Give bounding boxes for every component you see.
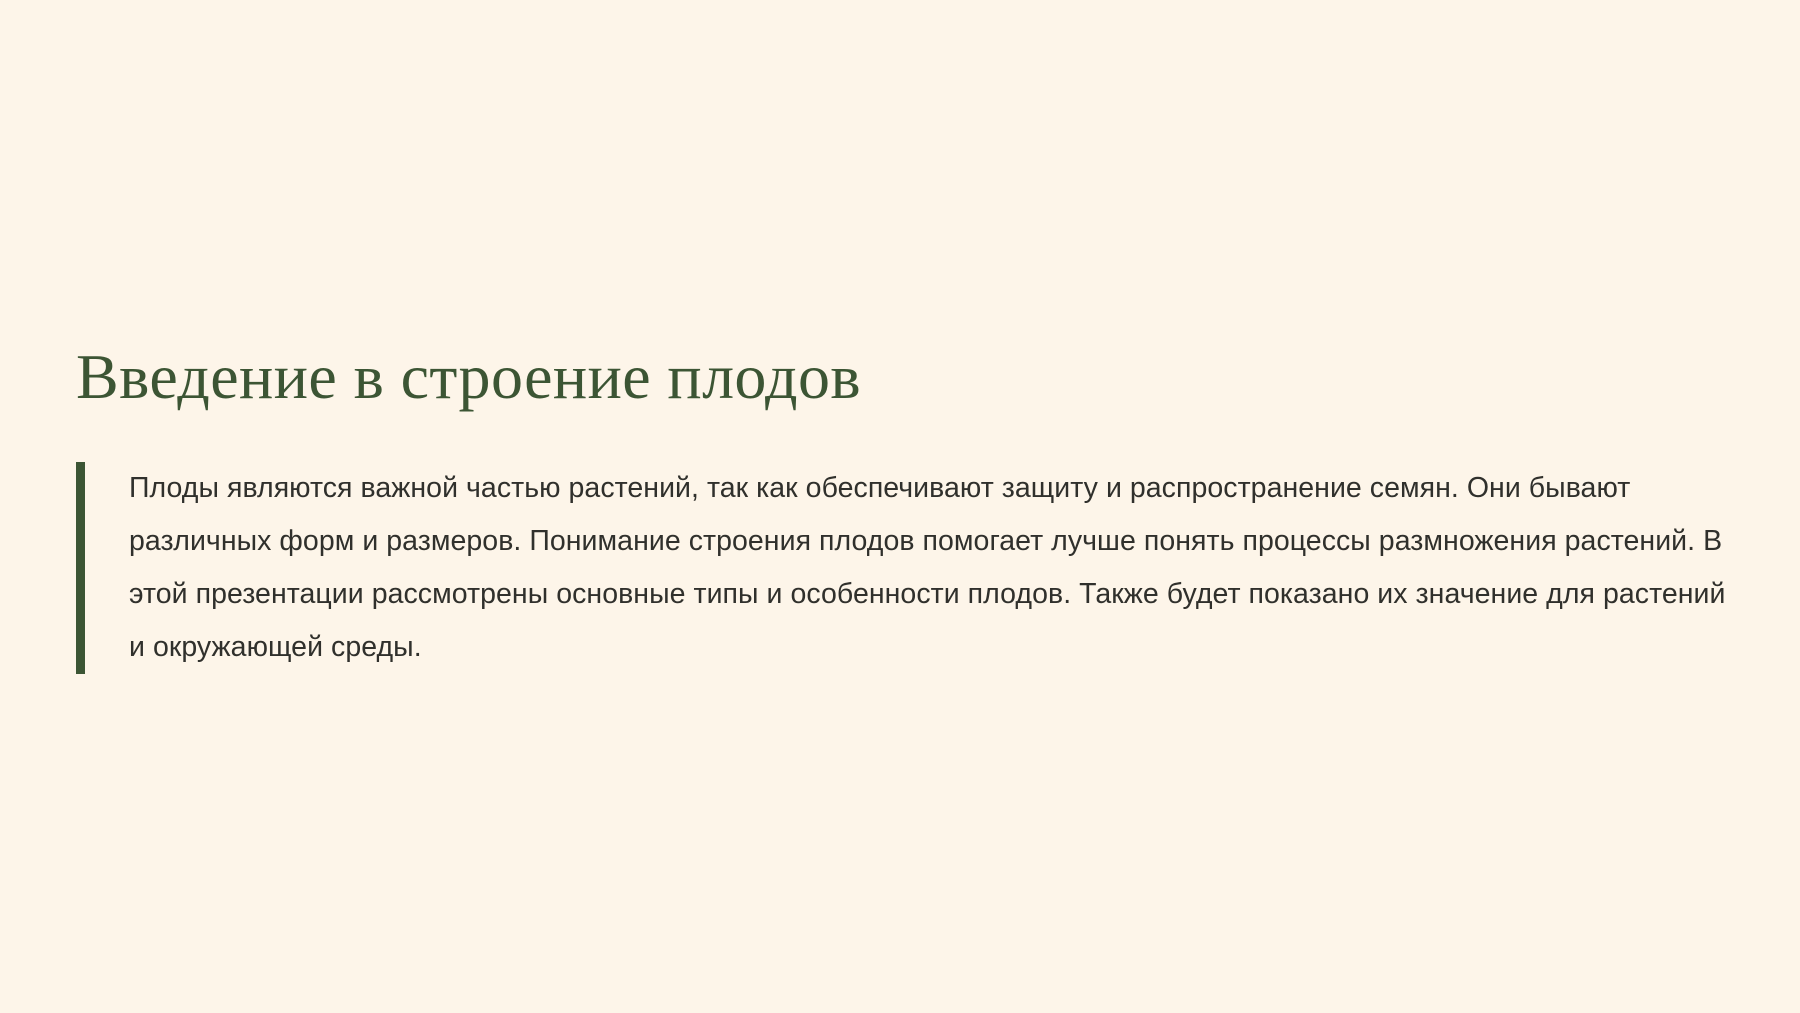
presentation-slide: Введение в строение плодов Плоды являютс… — [0, 0, 1800, 1013]
slide-title: Введение в строение плодов — [76, 344, 1716, 411]
slide-body-text: Плоды являются важной частью растений, т… — [85, 462, 1748, 674]
slide-body-block: Плоды являются важной частью растений, т… — [76, 462, 1748, 674]
left-accent-bar — [76, 462, 85, 674]
